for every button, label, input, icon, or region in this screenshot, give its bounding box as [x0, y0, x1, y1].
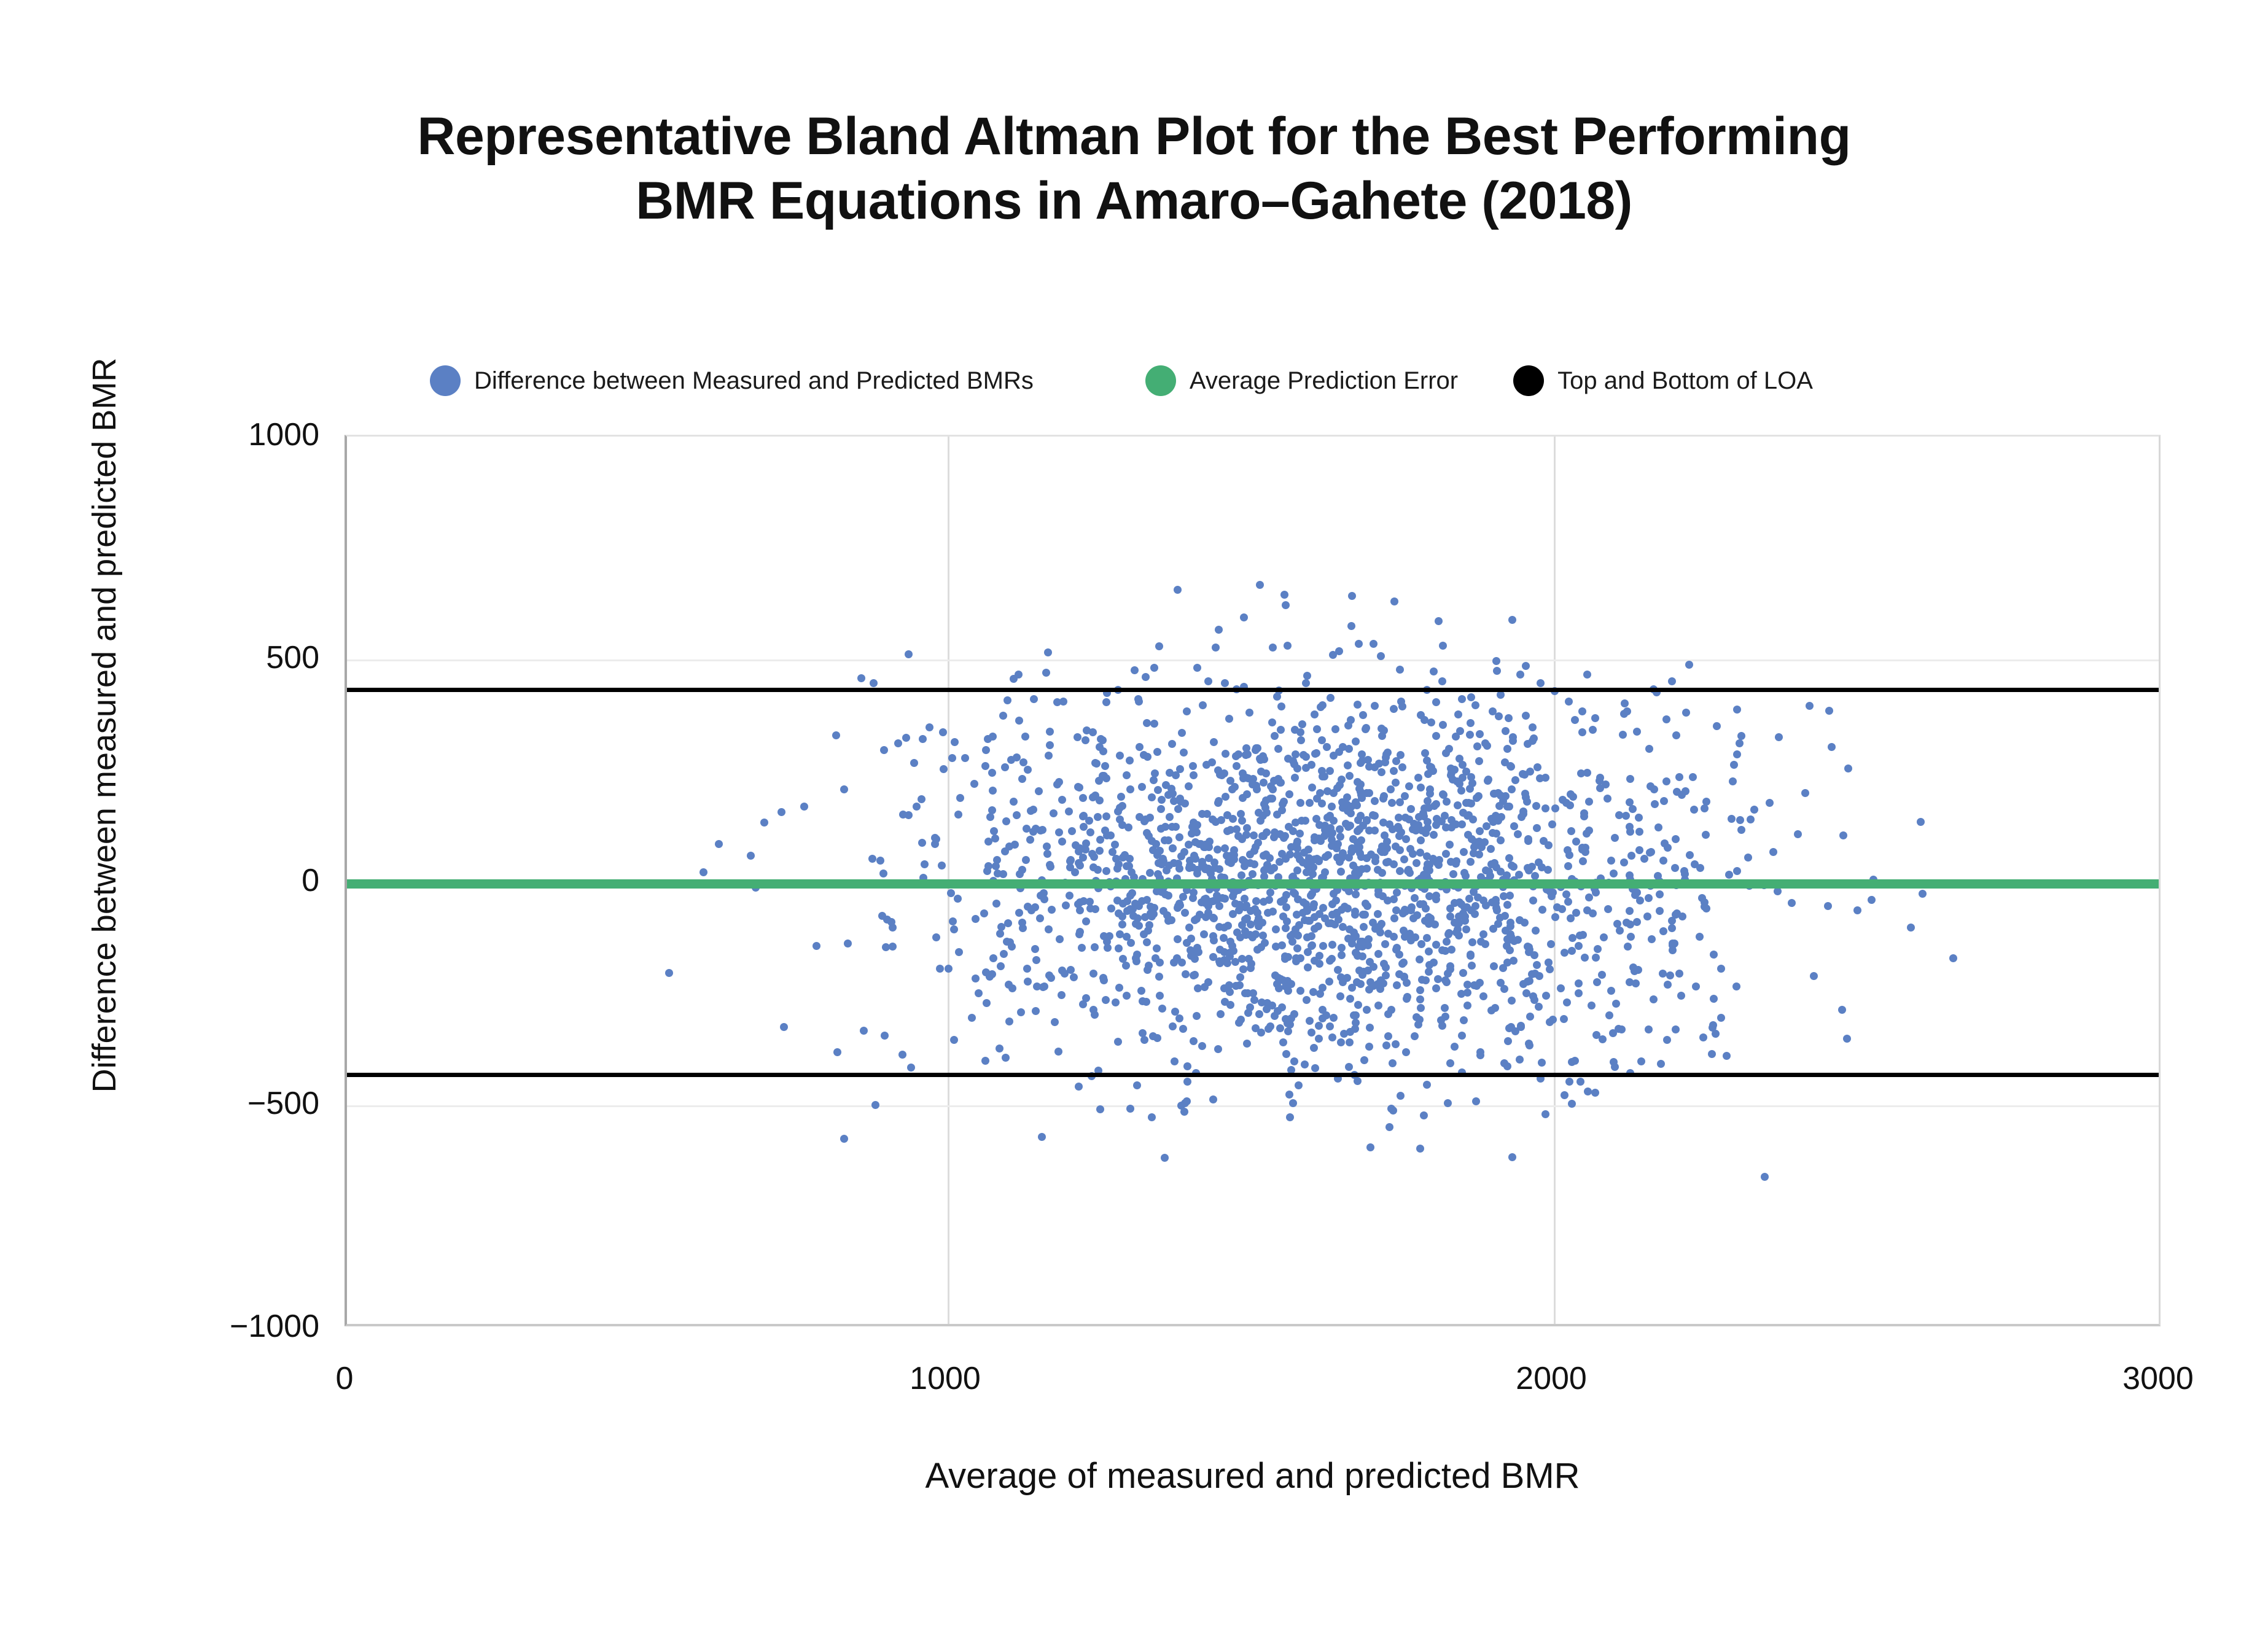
scatter-point [1825, 707, 1833, 715]
scatter-point [1121, 851, 1129, 859]
scatter-point [1178, 729, 1186, 737]
scatter-point [1311, 710, 1319, 718]
scatter-point [972, 975, 980, 982]
scatter-point [1564, 846, 1572, 854]
scatter-point [1334, 840, 1342, 848]
scatter-point [868, 855, 876, 863]
scatter-point [1400, 959, 1408, 967]
scatter-point [1672, 835, 1680, 843]
scatter-point [1115, 944, 1123, 952]
scatter-point [1366, 1143, 1374, 1151]
scatter-point [880, 746, 888, 754]
scatter-point [1801, 789, 1809, 797]
scatter-point [1403, 995, 1411, 1003]
scatter-point [1612, 1000, 1620, 1008]
scatter-point [1668, 924, 1676, 932]
scatter-point [1571, 716, 1579, 724]
scatter-point [1327, 694, 1335, 702]
scatter-point [1260, 779, 1268, 787]
scatter-point [1682, 709, 1690, 717]
scatter-point [1126, 757, 1134, 764]
scatter-point [968, 1014, 976, 1022]
scatter-point [1026, 836, 1034, 844]
scatter-point [1592, 954, 1600, 962]
scatter-point [1696, 864, 1704, 872]
scatter-point [1183, 707, 1191, 715]
scatter-point [1165, 862, 1173, 870]
scatter-point [1444, 930, 1452, 938]
scatter-point [1511, 776, 1519, 784]
scatter-point [1228, 942, 1236, 950]
scatter-point [1255, 1010, 1263, 1018]
scatter-point [1200, 930, 1208, 938]
scatter-point [1710, 951, 1718, 959]
scatter-point [1075, 1083, 1083, 1091]
scatter-point [1002, 1054, 1010, 1062]
scatter-point [1462, 925, 1470, 933]
scatter-point [1788, 899, 1796, 907]
scatter-point [1717, 965, 1725, 973]
scatter-point [1214, 1045, 1222, 1053]
scatter-point [1161, 823, 1169, 831]
scatter-point [1337, 868, 1345, 876]
scatter-point [1538, 863, 1546, 871]
scatter-point [1432, 984, 1440, 992]
scatter-point [1575, 989, 1583, 997]
scatter-point [840, 1135, 848, 1143]
scatter-point [1204, 909, 1212, 917]
scatter-point [1144, 753, 1152, 761]
scatter-point [1541, 1110, 1549, 1118]
scatter-point [1363, 865, 1371, 873]
scatter-point [1669, 946, 1677, 954]
scatter-point [1267, 866, 1275, 874]
scatter-point [1347, 803, 1355, 811]
scatter-point [1004, 919, 1012, 927]
scatter-point [1266, 1022, 1274, 1030]
scatter-point [1015, 717, 1023, 725]
scatter-point [999, 712, 1007, 720]
scatter-point [1535, 1003, 1543, 1011]
scatter-point [1304, 963, 1312, 971]
scatter-point [1443, 798, 1451, 806]
scatter-point [1036, 914, 1044, 922]
scatter-point [1425, 968, 1433, 976]
scatter-point [1843, 1035, 1851, 1043]
legend-item-average-error[interactable]: Average Prediction Error [1145, 365, 1458, 396]
scatter-point [1464, 831, 1472, 839]
scatter-point [1564, 898, 1572, 906]
scatter-point [1441, 1013, 1449, 1021]
scatter-point [1775, 733, 1783, 741]
scatter-point [1654, 823, 1662, 831]
scatter-point [1471, 902, 1479, 910]
scatter-point [1524, 864, 1532, 872]
scatter-point [1293, 866, 1301, 874]
scatter-point [1258, 832, 1266, 840]
scatter-point [1384, 1010, 1392, 1018]
scatter-point [918, 839, 926, 847]
scatter-point [1473, 794, 1481, 802]
scatter-point [1144, 927, 1152, 935]
scatter-point [1243, 824, 1251, 832]
scatter-point [1252, 843, 1260, 851]
scatter-point [1236, 973, 1244, 981]
scatter-point [1352, 1019, 1360, 1027]
scatter-point [665, 969, 673, 977]
scatter-point [1145, 962, 1153, 970]
scatter-point [1016, 870, 1024, 878]
scatter-point [1761, 1173, 1769, 1181]
scatter-point [1363, 817, 1371, 825]
scatter-point [1659, 970, 1667, 978]
scatter-point [1579, 857, 1587, 865]
scatter-point [1058, 991, 1066, 999]
scatter-point [1226, 826, 1234, 834]
scatter-point [1472, 1097, 1480, 1105]
scatter-point [1239, 965, 1247, 973]
scatter-point [1334, 966, 1342, 974]
scatter-point [1651, 800, 1659, 808]
plot-area [345, 435, 2161, 1326]
scatter-point [1005, 842, 1013, 850]
scatter-point [1328, 941, 1336, 949]
scatter-point [1633, 728, 1641, 736]
scatter-point [1209, 1095, 1217, 1103]
legend-label-loa: Top and Bottom of LOA [1557, 367, 1813, 395]
scatter-point [1750, 806, 1758, 814]
scatter-point [1500, 985, 1508, 993]
scatter-point [1616, 927, 1624, 935]
scatter-point [1010, 798, 1018, 806]
scatter-point [1303, 996, 1311, 1004]
scatter-point [1045, 925, 1053, 933]
scatter-point [1031, 945, 1039, 953]
scatter-point [1736, 816, 1744, 824]
scatter-point [948, 754, 956, 762]
scatter-point [1191, 971, 1199, 979]
scatter-point [1806, 702, 1814, 710]
scatter-point [1177, 852, 1185, 860]
scatter-point [1354, 827, 1362, 835]
scatter-point [1133, 1081, 1141, 1089]
scatter-point [1338, 944, 1346, 952]
scatter-point [1449, 870, 1457, 878]
scatter-point [1260, 755, 1268, 763]
scatter-point [1190, 889, 1198, 897]
scatter-point [1146, 814, 1154, 822]
scatter-point [1416, 995, 1424, 1003]
scatter-point [1390, 767, 1398, 775]
scatter-point [1346, 1038, 1354, 1046]
scatter-point [1371, 702, 1379, 710]
scatter-point [955, 948, 963, 956]
scatter-point [1346, 995, 1354, 1003]
scatter-point [1604, 905, 1612, 913]
scatter-point [1497, 836, 1505, 844]
scatter-point [1393, 944, 1401, 952]
scatter-point [1325, 978, 1333, 986]
legend-item-difference[interactable]: Difference between Measured and Predicte… [430, 365, 1034, 396]
scatter-point [1919, 890, 1927, 898]
scatter-point [1061, 970, 1069, 978]
legend-marker-circle-black [1513, 365, 1544, 396]
scatter-point [1621, 699, 1629, 707]
scatter-point [1729, 777, 1737, 785]
scatter-point [1459, 969, 1467, 977]
scatter-point [1744, 854, 1752, 862]
scatter-point [1568, 947, 1576, 955]
scatter-point [1278, 941, 1286, 949]
scatter-point [1619, 731, 1627, 739]
scatter-point [1338, 951, 1346, 959]
scatter-point [1662, 715, 1670, 723]
scatter-point [1166, 813, 1174, 821]
scatter-point [840, 785, 848, 793]
scatter-point [1467, 719, 1475, 727]
scatter-point [1302, 679, 1310, 687]
scatter-point [1126, 785, 1134, 793]
legend-item-loa[interactable]: Top and Bottom of LOA [1513, 365, 1813, 396]
scatter-point [1021, 733, 1029, 741]
scatter-point [1266, 795, 1274, 803]
scatter-point [949, 917, 957, 925]
scatter-point [1463, 903, 1471, 911]
scatter-point [1530, 951, 1538, 959]
scatter-point [1560, 1015, 1568, 1023]
scatter-point [1490, 962, 1498, 970]
scatter-point [1627, 933, 1635, 941]
scatter-point [1503, 745, 1511, 753]
scatter-point [1385, 1123, 1393, 1131]
scatter-point [1293, 911, 1301, 919]
scatter-point [1149, 1032, 1157, 1040]
scatter-point [1147, 903, 1155, 911]
scatter-point [1215, 626, 1223, 634]
scatter-point [1374, 890, 1382, 898]
scatter-point [1315, 1035, 1323, 1043]
chart-title: Representative Bland Altman Plot for the… [0, 104, 2268, 233]
scatter-point [1374, 866, 1382, 874]
scatter-point [1542, 992, 1550, 1000]
scatter-point [881, 1032, 889, 1040]
scatter-point [1138, 783, 1146, 791]
scatter-point [1175, 833, 1183, 841]
scatter-point [1423, 865, 1431, 873]
scatter-point [1330, 1014, 1338, 1022]
scatter-point [1523, 798, 1531, 806]
scatter-point [1214, 799, 1222, 807]
scatter-point [1417, 836, 1425, 844]
scatter-point [777, 808, 785, 816]
scatter-point [1949, 954, 1957, 962]
scatter-point [1699, 1033, 1707, 1041]
scatter-point [1202, 761, 1210, 769]
scatter-point [1389, 1107, 1397, 1115]
scatter-point [1370, 963, 1378, 971]
scatter-point [1238, 817, 1246, 825]
scatter-point [1215, 865, 1223, 873]
scatter-point [1824, 902, 1832, 910]
scatter-point [1348, 940, 1356, 947]
scatter-point [902, 734, 910, 742]
scatter-point [988, 970, 996, 978]
scatter-point [1463, 1002, 1471, 1010]
scatter-point [1223, 959, 1231, 967]
scatter-point [1519, 807, 1527, 815]
scatter-point [1259, 932, 1267, 940]
scatter-point [1253, 785, 1261, 793]
scatter-point [1416, 955, 1424, 963]
scatter-point [1081, 846, 1089, 854]
scatter-point [1282, 891, 1290, 899]
scatter-point [1510, 822, 1518, 830]
scatter-point [1051, 1018, 1059, 1026]
scatter-point [1331, 920, 1339, 928]
scatter-point [1152, 954, 1159, 962]
scatter-point [1032, 1007, 1040, 1015]
scatter-point [1032, 956, 1040, 964]
scatter-point [1017, 1008, 1025, 1016]
scatter-point [1226, 1001, 1234, 1009]
scatter-point [1452, 733, 1460, 741]
scatter-point [1357, 780, 1365, 788]
scatter-point [1292, 925, 1300, 933]
scatter-point [1174, 805, 1182, 813]
scatter-point [1575, 979, 1583, 987]
scatter-point [1514, 830, 1522, 838]
scatter-point [1286, 1113, 1294, 1121]
scatter-point [1175, 1014, 1183, 1022]
scatter-point [1538, 1059, 1546, 1067]
scatter-point [1453, 777, 1461, 785]
scatter-point [1002, 817, 1010, 825]
scatter-point [1519, 980, 1527, 988]
scatter-point [1181, 909, 1189, 917]
scatter-point [1602, 780, 1610, 788]
scatter-point [1541, 774, 1549, 782]
scatter-point [1311, 833, 1319, 841]
scatter-point [1442, 850, 1450, 858]
scatter-point [1300, 849, 1308, 857]
scatter-point [1681, 870, 1689, 878]
scatter-point [1626, 907, 1634, 915]
scatter-point [1010, 675, 1018, 683]
scatter-point [1522, 662, 1530, 670]
scatter-point [1100, 976, 1108, 984]
scatter-point [1296, 799, 1304, 807]
x-tick-0: 0 [222, 1360, 467, 1397]
scatter-point [1185, 782, 1193, 790]
scatter-point [1162, 781, 1170, 789]
scatter-point [1572, 909, 1580, 917]
legend-marker-circle-green [1145, 365, 1176, 396]
scatter-point [876, 857, 884, 865]
scatter-point [1637, 1057, 1645, 1065]
scatter-point [1257, 768, 1265, 776]
scatter-point [1344, 722, 1352, 729]
scatter-point [1460, 848, 1468, 856]
scatter-point [1094, 813, 1102, 821]
scatter-point [1620, 858, 1628, 866]
scatter-point [1458, 1032, 1466, 1040]
scatter-point [1610, 870, 1618, 877]
scatter-point [1479, 992, 1487, 1000]
scatter-point [1311, 1064, 1319, 1072]
scatter-point [1168, 740, 1176, 748]
scatter-point [1661, 839, 1669, 847]
scatter-point [1199, 701, 1207, 709]
scatter-point [1430, 667, 1438, 675]
scatter-point [1115, 909, 1123, 917]
scatter-point [1381, 848, 1389, 856]
scatter-point [1502, 792, 1510, 800]
scatter-point [1150, 720, 1158, 728]
scatter-point [1390, 860, 1398, 868]
scatter-point [1303, 672, 1311, 680]
scatter-point [1053, 780, 1061, 788]
scatter-point [1342, 820, 1350, 828]
scatter-point [1030, 695, 1038, 703]
scatter-point [1689, 773, 1697, 781]
scatter-point [1733, 867, 1741, 875]
scatter-point [1239, 794, 1247, 802]
scatter-point [1282, 601, 1290, 609]
scatter-point [1360, 923, 1368, 931]
scatter-point [1402, 835, 1410, 843]
scatter-point [1062, 901, 1070, 909]
scatter-point [1675, 773, 1683, 781]
scatter-point [1384, 897, 1392, 905]
scatter-point [1430, 959, 1438, 967]
scatter-point [1623, 919, 1631, 927]
scatter-point [1260, 852, 1268, 860]
scatter-point [1278, 850, 1286, 858]
scatter-point [1569, 793, 1577, 801]
scatter-point [1046, 861, 1054, 869]
scatter-point [1633, 889, 1641, 897]
scatter-point [1346, 1028, 1354, 1036]
scatter-point [1497, 691, 1505, 699]
scatter-point [981, 1057, 989, 1065]
scatter-point [1713, 722, 1721, 730]
scatter-point [1046, 741, 1054, 749]
scatter-point [1217, 816, 1225, 824]
scatter-point [1265, 896, 1273, 904]
scatter-point [1256, 581, 1264, 589]
scatter-point [1150, 664, 1158, 672]
scatter-point [1271, 732, 1279, 740]
scatter-point [1224, 922, 1232, 930]
scatter-point [1290, 889, 1298, 897]
scatter-point [1136, 743, 1144, 751]
scatter-point [1839, 831, 1847, 839]
scatter-point [1384, 749, 1392, 757]
scatter-point [1261, 939, 1269, 947]
scatter-point [1591, 1089, 1599, 1097]
scatter-point [1241, 858, 1249, 866]
scatter-point [1365, 986, 1373, 994]
scatter-point [954, 895, 962, 903]
scatter-point [1662, 777, 1670, 785]
scatter-point [1005, 1017, 1013, 1025]
scatter-point [1289, 1099, 1297, 1107]
scatter-point [1458, 695, 1466, 703]
scatter-point [1191, 823, 1199, 831]
scatter-point [1737, 732, 1745, 740]
scatter-point [1585, 798, 1593, 806]
scatter-point [1183, 1097, 1191, 1105]
